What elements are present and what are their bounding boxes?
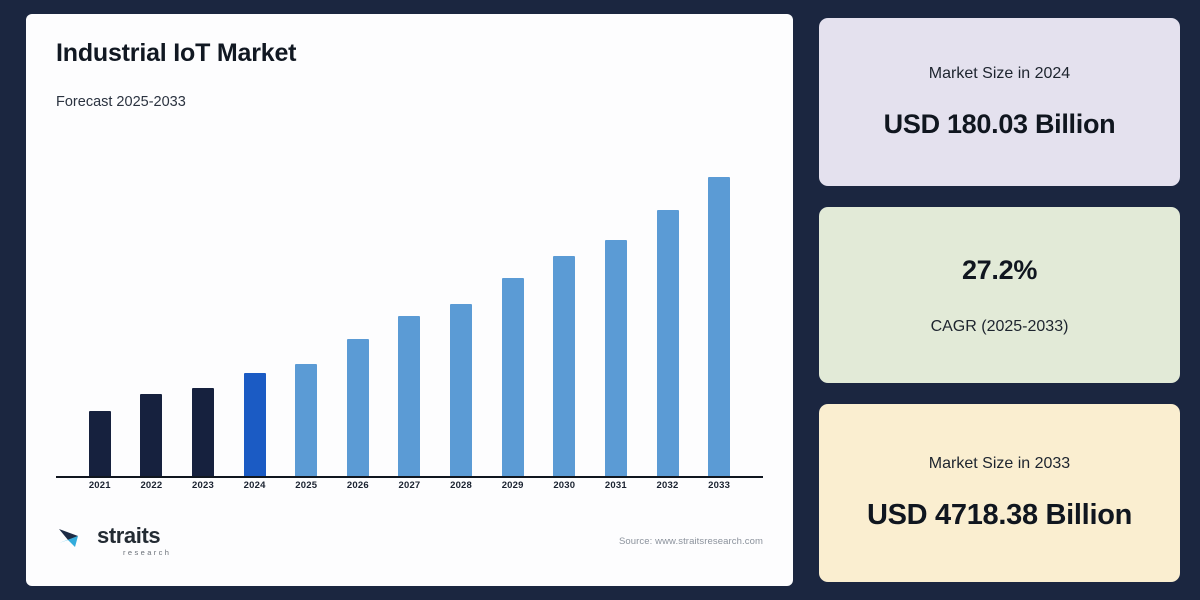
bar-slot xyxy=(74,166,126,476)
bar-2029[interactable] xyxy=(502,278,524,476)
x-axis-label-2033: 2033 xyxy=(693,480,745,491)
bar-slot xyxy=(280,166,332,476)
stat-card-value: USD 180.03 Billion xyxy=(884,109,1116,140)
x-axis-label-2022: 2022 xyxy=(126,480,178,491)
chart-subtitle: Forecast 2025-2033 xyxy=(56,94,763,110)
stat-card-cagr: 27.2% CAGR (2025-2033) xyxy=(819,207,1180,383)
x-axis-label-2030: 2030 xyxy=(538,480,590,491)
bar-2026[interactable] xyxy=(347,339,369,476)
bar-slot xyxy=(538,166,590,476)
chart-panel: Industrial IoT Market Forecast 2025-2033… xyxy=(26,14,793,586)
x-axis-label-2025: 2025 xyxy=(280,480,332,491)
panel-footer: straits research Source: www.straitsrese… xyxy=(56,514,763,568)
x-axis-label-2028: 2028 xyxy=(435,480,487,491)
straits-research-logo: straits research xyxy=(56,523,171,560)
logo-word: straits xyxy=(97,525,160,547)
stat-card-label: Market Size in 2024 xyxy=(929,65,1070,83)
source-attribution: Source: www.straitsresearch.com xyxy=(619,536,763,547)
bar-2024[interactable] xyxy=(244,373,266,476)
bar-2030[interactable] xyxy=(553,256,575,476)
x-axis-label-2021: 2021 xyxy=(74,480,126,491)
x-axis-label-2029: 2029 xyxy=(487,480,539,491)
x-axis-label-2024: 2024 xyxy=(229,480,281,491)
bar-chart-plot: 2021202220232024202520262027202820292030… xyxy=(56,166,763,478)
x-axis-label-2031: 2031 xyxy=(590,480,642,491)
bar-series xyxy=(56,166,763,476)
page-title: Industrial IoT Market xyxy=(56,40,763,68)
bar-slot xyxy=(590,166,642,476)
bar-2028[interactable] xyxy=(450,304,472,476)
bar-2021[interactable] xyxy=(89,411,111,476)
logo-arrow-icon xyxy=(56,523,90,560)
bar-2022[interactable] xyxy=(140,394,162,476)
bar-slot xyxy=(435,166,487,476)
bar-2023[interactable] xyxy=(192,388,214,476)
x-axis-label-2023: 2023 xyxy=(177,480,229,491)
x-axis-label-2026: 2026 xyxy=(332,480,384,491)
bar-slot xyxy=(642,166,694,476)
bar-slot xyxy=(693,166,745,476)
stat-card-label: CAGR (2025-2033) xyxy=(931,318,1069,336)
x-axis-line xyxy=(56,476,763,479)
x-axis-label-2027: 2027 xyxy=(384,480,436,491)
stat-card-label: Market Size in 2033 xyxy=(929,455,1070,473)
bar-slot xyxy=(126,166,178,476)
x-axis-tick-labels: 2021202220232024202520262027202820292030… xyxy=(56,480,763,491)
bar-2025[interactable] xyxy=(295,364,317,476)
poster-root: Industrial IoT Market Forecast 2025-2033… xyxy=(0,0,1200,600)
stat-cards: Market Size in 2024 USD 180.03 Billion 2… xyxy=(819,14,1184,586)
logo-subword: research xyxy=(123,549,171,557)
bar-slot xyxy=(177,166,229,476)
bar-2033[interactable] xyxy=(708,177,730,476)
bar-2032[interactable] xyxy=(657,210,679,476)
stat-card-market-size-2024: Market Size in 2024 USD 180.03 Billion xyxy=(819,18,1180,186)
bar-slot xyxy=(229,166,281,476)
bar-slot xyxy=(384,166,436,476)
bar-slot xyxy=(332,166,384,476)
bar-2027[interactable] xyxy=(398,316,420,476)
x-axis-label-2032: 2032 xyxy=(642,480,694,491)
stat-card-market-size-2033: Market Size in 2033 USD 4718.38 Billion xyxy=(819,404,1180,582)
stat-card-value: 27.2% xyxy=(962,255,1037,286)
bar-slot xyxy=(487,166,539,476)
logo-text: straits research xyxy=(97,525,171,557)
bar-2031[interactable] xyxy=(605,240,627,476)
stat-card-value: USD 4718.38 Billion xyxy=(867,499,1132,532)
